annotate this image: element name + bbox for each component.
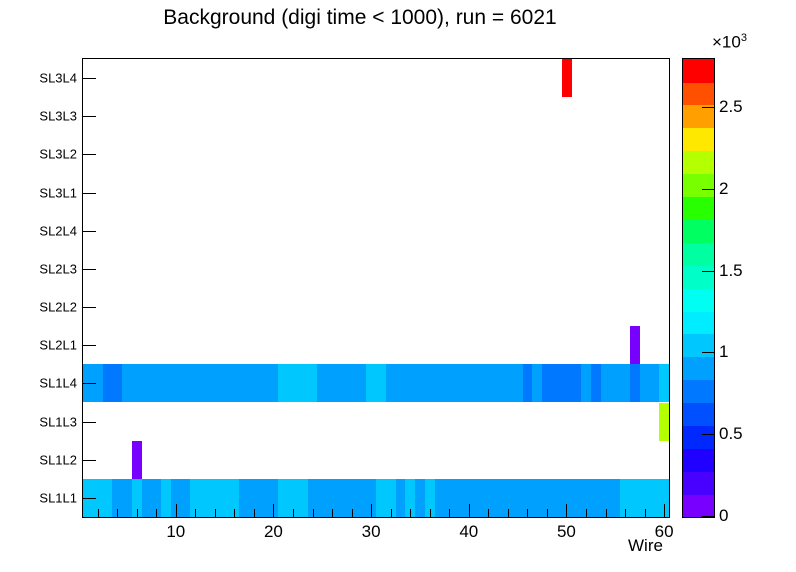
color-scale-tick: [702, 516, 715, 517]
page-title: Background (digi time < 1000), run = 602…: [0, 6, 720, 30]
y-axis-label-sl2l1: SL2L1: [39, 338, 77, 353]
y-axis-tick: [83, 498, 96, 499]
y-axis-tick: [83, 422, 96, 423]
heatmap-cells: [83, 59, 669, 517]
color-scale-tick-label: 1: [719, 342, 728, 362]
y-axis-label-sl2l2: SL2L2: [39, 300, 77, 315]
color-scale-tick-label: 2.5: [719, 97, 743, 117]
y-axis-label-sl3l1: SL3L1: [39, 185, 77, 200]
y-axis-label-sl1l1: SL1L1: [39, 490, 77, 505]
x-axis-tick: [566, 504, 567, 517]
x-axis-tick: [664, 504, 665, 517]
y-axis-label-sl2l4: SL2L4: [39, 223, 77, 238]
x-axis-tick-label: 50: [557, 522, 576, 542]
root-canvas: Background (digi time < 1000), run = 602…: [0, 0, 796, 572]
x-axis-tick: [137, 509, 138, 517]
x-axis-tick: [254, 509, 255, 517]
y-axis-tick: [83, 269, 96, 270]
x-axis-tick-label: 20: [264, 522, 283, 542]
x-axis-tick: [313, 509, 314, 517]
y-axis-tick: [83, 116, 96, 117]
y-axis-tick: [83, 345, 96, 346]
color-scale-tick: [702, 434, 715, 435]
y-axis-tick: [83, 231, 96, 232]
color-scale-exponent: ×103: [712, 32, 747, 53]
x-axis-tick-label: 10: [166, 522, 185, 542]
color-scale-exponent-power: 3: [741, 32, 747, 44]
heatmap-cell: [562, 59, 572, 97]
x-axis-tick: [371, 504, 372, 517]
color-scale-tick-label: 1.5: [719, 261, 743, 281]
x-axis-tick: [117, 509, 118, 517]
x-axis-tick: [645, 509, 646, 517]
x-axis-tick: [508, 509, 509, 517]
color-scale-tick-label: 0.5: [719, 424, 743, 444]
x-axis-tick: [586, 509, 587, 517]
x-axis-tick-label: 40: [459, 522, 478, 542]
x-axis-tick-label: 30: [362, 522, 381, 542]
y-axis-tick: [83, 460, 96, 461]
x-axis-tick: [547, 509, 548, 517]
x-axis-tick: [234, 509, 235, 517]
x-axis-tick: [293, 509, 294, 517]
x-axis-tick: [195, 509, 196, 517]
color-scale-tick: [702, 271, 715, 272]
x-axis-tick: [215, 509, 216, 517]
x-axis-tick: [391, 509, 392, 517]
color-scale-tick: [702, 189, 715, 190]
y-axis-label-sl3l4: SL3L4: [39, 71, 77, 86]
y-axis-tick: [83, 307, 96, 308]
y-axis-label-sl3l2: SL3L2: [39, 147, 77, 162]
plot-frame: SL1L1SL1L2SL1L3SL1L4SL2L1SL2L2SL2L3SL2L4…: [82, 58, 670, 518]
x-axis-tick: [176, 504, 177, 517]
x-axis-tick: [332, 509, 333, 517]
y-axis-tick: [83, 193, 96, 194]
y-axis-tick: [83, 78, 96, 79]
x-axis-tick: [488, 509, 489, 517]
x-axis-tick: [606, 509, 607, 517]
y-axis-label-sl2l3: SL2L3: [39, 261, 77, 276]
x-axis-tick: [352, 509, 353, 517]
color-scale-tick-label: 0: [719, 506, 728, 526]
x-axis-tick: [625, 509, 626, 517]
heatmap-cell: [659, 364, 669, 402]
heatmap-cell: [630, 326, 640, 364]
x-axis-tick: [527, 509, 528, 517]
x-axis-tick: [98, 509, 99, 517]
heatmap-cell: [659, 403, 669, 441]
color-scale-axis: 00.511.522.5: [682, 58, 792, 518]
y-axis-label-sl1l4: SL1L4: [39, 376, 77, 391]
x-axis-title: Wire: [628, 536, 663, 556]
color-scale-tick: [702, 352, 715, 353]
y-axis-tick: [83, 383, 96, 384]
y-axis-label-sl1l3: SL1L3: [39, 414, 77, 429]
y-axis-tick: [83, 154, 96, 155]
x-axis-tick: [273, 504, 274, 517]
x-axis-tick: [430, 509, 431, 517]
x-axis-tick: [469, 504, 470, 517]
y-axis-label-sl3l3: SL3L3: [39, 109, 77, 124]
x-axis-tick: [449, 509, 450, 517]
heatmap-cell: [132, 441, 142, 479]
x-axis-tick: [410, 509, 411, 517]
color-scale-tick-label: 2: [719, 179, 728, 199]
x-axis-tick: [156, 509, 157, 517]
y-axis-label-sl1l2: SL1L2: [39, 452, 77, 467]
color-scale-tick: [702, 107, 715, 108]
